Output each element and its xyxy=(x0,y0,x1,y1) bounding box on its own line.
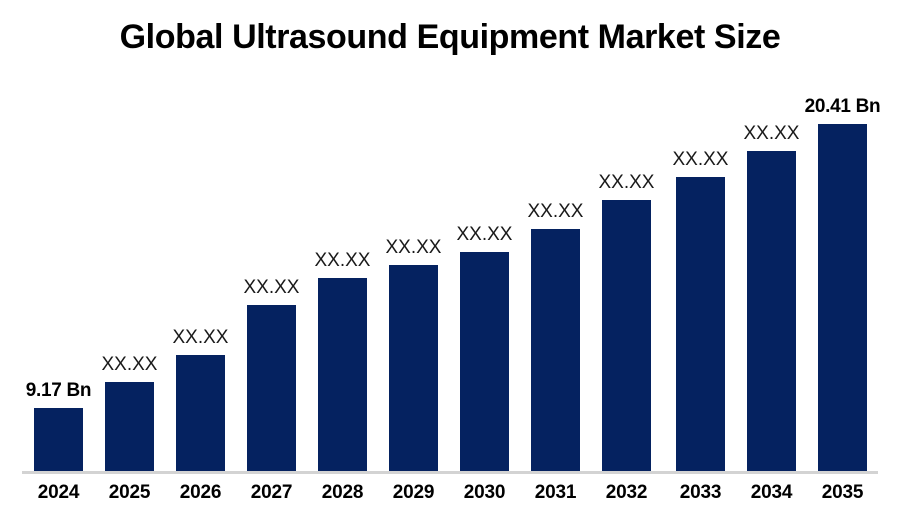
bar-value-label: XX.XX xyxy=(505,201,606,223)
plot-area: 9.17 Bn2024XX.XX2025XX.XX2026XX.XX2027XX… xyxy=(0,0,900,525)
bar[interactable] xyxy=(389,265,438,471)
x-axis-tick-label-2035: 2035 xyxy=(792,482,893,504)
bar-value-label: XX.XX xyxy=(721,123,822,145)
bar[interactable] xyxy=(176,355,225,471)
bar-value-label: XX.XX xyxy=(434,224,535,246)
bar[interactable] xyxy=(747,151,796,471)
bar[interactable] xyxy=(34,408,83,471)
bar-group: XX.XX2032 xyxy=(602,0,651,525)
bar-value-label: XX.XX xyxy=(576,172,677,194)
bar-group: XX.XX2029 xyxy=(389,0,438,525)
bar-group: XX.XX2026 xyxy=(176,0,225,525)
bar[interactable] xyxy=(318,278,367,471)
bar-group: XX.XX2025 xyxy=(105,0,154,525)
bar-group: 9.17 Bn2024 xyxy=(34,0,83,525)
bar[interactable] xyxy=(818,124,867,471)
bar-group: XX.XX2028 xyxy=(318,0,367,525)
bar-value-label: XX.XX xyxy=(650,149,751,171)
bar-value-label: XX.XX xyxy=(221,277,322,299)
bar-value-label: 20.41 Bn xyxy=(792,96,893,118)
bar[interactable] xyxy=(602,200,651,471)
bar[interactable] xyxy=(247,305,296,471)
bar-group: 20.41 Bn2035 xyxy=(818,0,867,525)
bar-value-label: 9.17 Bn xyxy=(8,380,109,402)
bar[interactable] xyxy=(676,177,725,471)
bar-value-label: XX.XX xyxy=(79,354,180,376)
bar-group: XX.XX2034 xyxy=(747,0,796,525)
bar-group: XX.XX2031 xyxy=(531,0,580,525)
chart-figure: Global Ultrasound Equipment Market Size … xyxy=(0,0,900,525)
bar[interactable] xyxy=(105,382,154,471)
bar[interactable] xyxy=(531,229,580,471)
bar-value-label: XX.XX xyxy=(150,327,251,349)
bar-group: XX.XX2033 xyxy=(676,0,725,525)
bar[interactable] xyxy=(460,252,509,471)
bar-group: XX.XX2030 xyxy=(460,0,509,525)
bar-group: XX.XX2027 xyxy=(247,0,296,525)
